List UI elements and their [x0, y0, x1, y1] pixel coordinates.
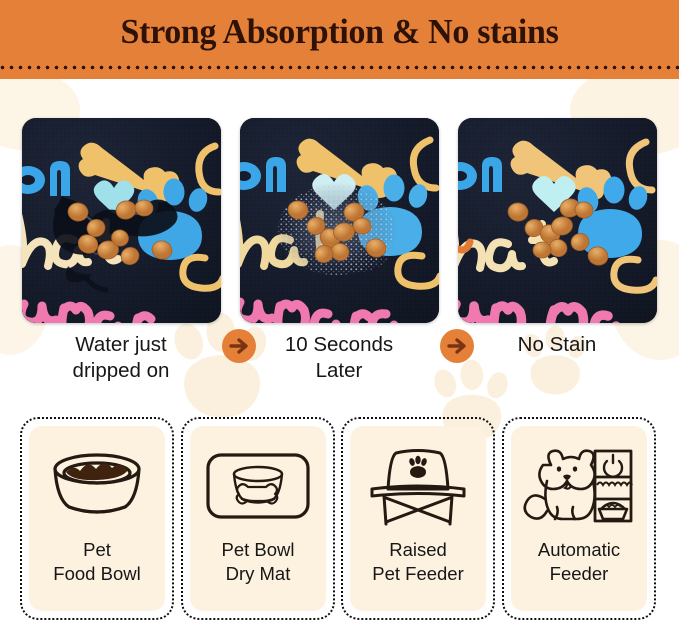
use-case-label-pet-food-bowl: Pet Food Bowl — [53, 538, 140, 586]
header-banner: Strong Absorption & No stains — [0, 0, 679, 79]
food-wave — [597, 483, 632, 486]
mat-text-pink — [22, 304, 151, 323]
demo-panel-row — [0, 118, 679, 323]
mat-text-on — [240, 157, 286, 192]
mat-text-on — [458, 157, 502, 192]
mat-graphics-3 — [458, 118, 657, 323]
use-case-card-raised-pet-feeder[interactable]: Raised Pet Feeder — [341, 417, 495, 620]
demo-panel-10-seconds-later — [240, 118, 439, 323]
mat-graphics-1 — [22, 118, 221, 323]
demo-panel-no-stain — [458, 118, 657, 323]
infographic-page: Strong Absorption & No stains — [0, 0, 679, 630]
pet-food-bowl-icon — [37, 438, 157, 534]
use-case-card-row: Pet Food Bowl — [0, 417, 679, 623]
demo-panel-water-dripped — [22, 118, 221, 323]
pet-bowl-dry-mat-icon — [198, 438, 318, 534]
caption-no-stain: No Stain — [457, 332, 657, 358]
use-case-label-pet-bowl-dry-mat: Pet Bowl Dry Mat — [221, 538, 294, 586]
dotted-divider — [0, 65, 679, 70]
use-case-card-pet-food-bowl[interactable]: Pet Food Bowl — [20, 417, 174, 620]
use-case-card-pet-bowl-dry-mat[interactable]: Pet Bowl Dry Mat — [181, 417, 335, 620]
use-case-card-automatic-feeder[interactable]: Automatic Feeder — [502, 417, 656, 620]
mat-text-pink — [458, 304, 616, 323]
mat-graphics-2 — [240, 118, 439, 323]
use-case-label-automatic-feeder: Automatic Feeder — [538, 538, 620, 586]
script-letter-orange — [458, 228, 470, 250]
raised-pet-feeder-icon — [358, 438, 478, 534]
mat-text-pink — [240, 302, 394, 323]
caption-10-seconds-later: 10 Seconds Later — [239, 332, 439, 384]
page-title: Strong Absorption & No stains — [10, 12, 669, 52]
use-case-label-raised-pet-feeder: Raised Pet Feeder — [372, 538, 464, 586]
automatic-feeder-icon — [519, 438, 639, 534]
mat-text-on — [22, 161, 70, 196]
power-icon — [604, 455, 622, 477]
paw-print-icon — [408, 456, 427, 478]
demo-captions: Water just dripped on 10 Seconds Later N… — [0, 332, 679, 392]
caption-water-dripped: Water just dripped on — [21, 332, 221, 384]
